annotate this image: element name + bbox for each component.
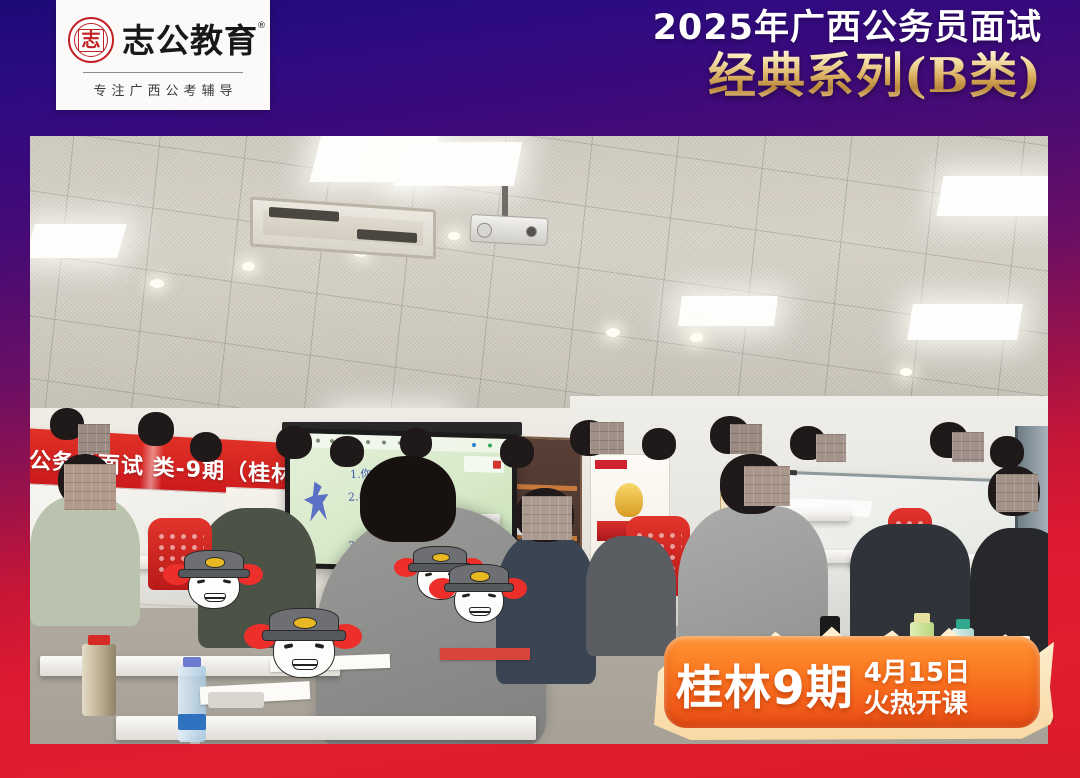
badge-right-group: 4月15日 火热开课 <box>864 660 970 718</box>
ceiling-panel-light <box>936 176 1048 216</box>
blurred-face <box>730 424 762 454</box>
ceiling-projector <box>469 214 548 246</box>
blurred-face <box>744 466 790 506</box>
student-head <box>360 456 456 542</box>
ceiling-panel-light <box>907 304 1023 340</box>
cartoon-face-sticker <box>262 608 344 682</box>
title-block: 2025年广西公务员面试 经典系列(B类) <box>653 8 1042 103</box>
ceiling-downlight <box>242 262 255 271</box>
student-head <box>990 436 1024 468</box>
blurred-face <box>64 464 116 510</box>
tablet <box>208 692 264 708</box>
blurred-face <box>590 422 624 454</box>
student-body <box>30 496 140 626</box>
brand-name-label: 志公教育 <box>122 21 258 60</box>
red-folder <box>440 648 530 660</box>
poster-root: 志 志公教育® 专注广西公考辅导 2025年广西公务员面试 经典系列(B类) <box>0 0 1080 778</box>
student-head <box>642 428 676 460</box>
ceiling-panel-light <box>678 296 778 326</box>
ceiling-downlight <box>606 328 620 337</box>
runner-figure-icon <box>304 481 330 522</box>
student-head <box>500 436 534 468</box>
brand-logo-row: 志 志公教育® <box>68 17 258 63</box>
seal-glyph-label: 志 <box>78 29 103 52</box>
student-head <box>400 428 432 458</box>
badge-hot-label: 火热开课 <box>864 691 970 718</box>
poster-title-main: 2025年广西公务员面试 <box>653 8 1042 48</box>
badge-text-group: 桂林9期 4月15日 火热开课 <box>676 648 1036 728</box>
student-head <box>330 436 364 467</box>
brand-name: 志公教育® <box>122 24 258 57</box>
blurred-face <box>996 474 1038 512</box>
blurred-face <box>522 496 572 540</box>
ceiling-downlight <box>448 232 460 240</box>
poster-tag <box>595 460 627 469</box>
brand-logo-card: 志 志公教育® 专注广西公考辅导 <box>56 0 270 110</box>
student-head <box>138 412 174 446</box>
brand-seal-icon: 志 <box>68 17 114 63</box>
screen-brand-watermark <box>464 456 504 473</box>
badge-session-label: 桂林9期 <box>676 665 854 712</box>
student-head <box>190 432 222 462</box>
ceiling-downlight <box>900 368 912 376</box>
trophy-icon <box>615 483 643 517</box>
blurred-face <box>952 432 984 462</box>
cartoon-face-sticker <box>444 564 512 626</box>
ceiling-panel-light <box>30 224 127 258</box>
brand-tagline: 专注广西公考辅导 <box>88 80 237 99</box>
session-badge[interactable]: 桂林9期 4月15日 火热开课 <box>650 614 1054 740</box>
bottle-label <box>178 714 206 730</box>
ceiling-downlight <box>150 279 164 288</box>
student-head <box>276 426 312 459</box>
cartoon-face-sticker <box>178 550 248 612</box>
blurred-face <box>78 424 110 454</box>
ceiling-panel-light <box>394 142 523 186</box>
ceiling-texture <box>30 136 1048 436</box>
logo-divider <box>83 72 243 73</box>
tea-jar <box>82 644 116 716</box>
poster-title-sub: 经典系列(B类) <box>653 50 1042 103</box>
registered-mark: ® <box>257 22 267 31</box>
ceiling-downlight <box>690 333 703 342</box>
badge-date-label: 4月15日 <box>864 660 970 687</box>
blurred-face <box>816 434 846 462</box>
